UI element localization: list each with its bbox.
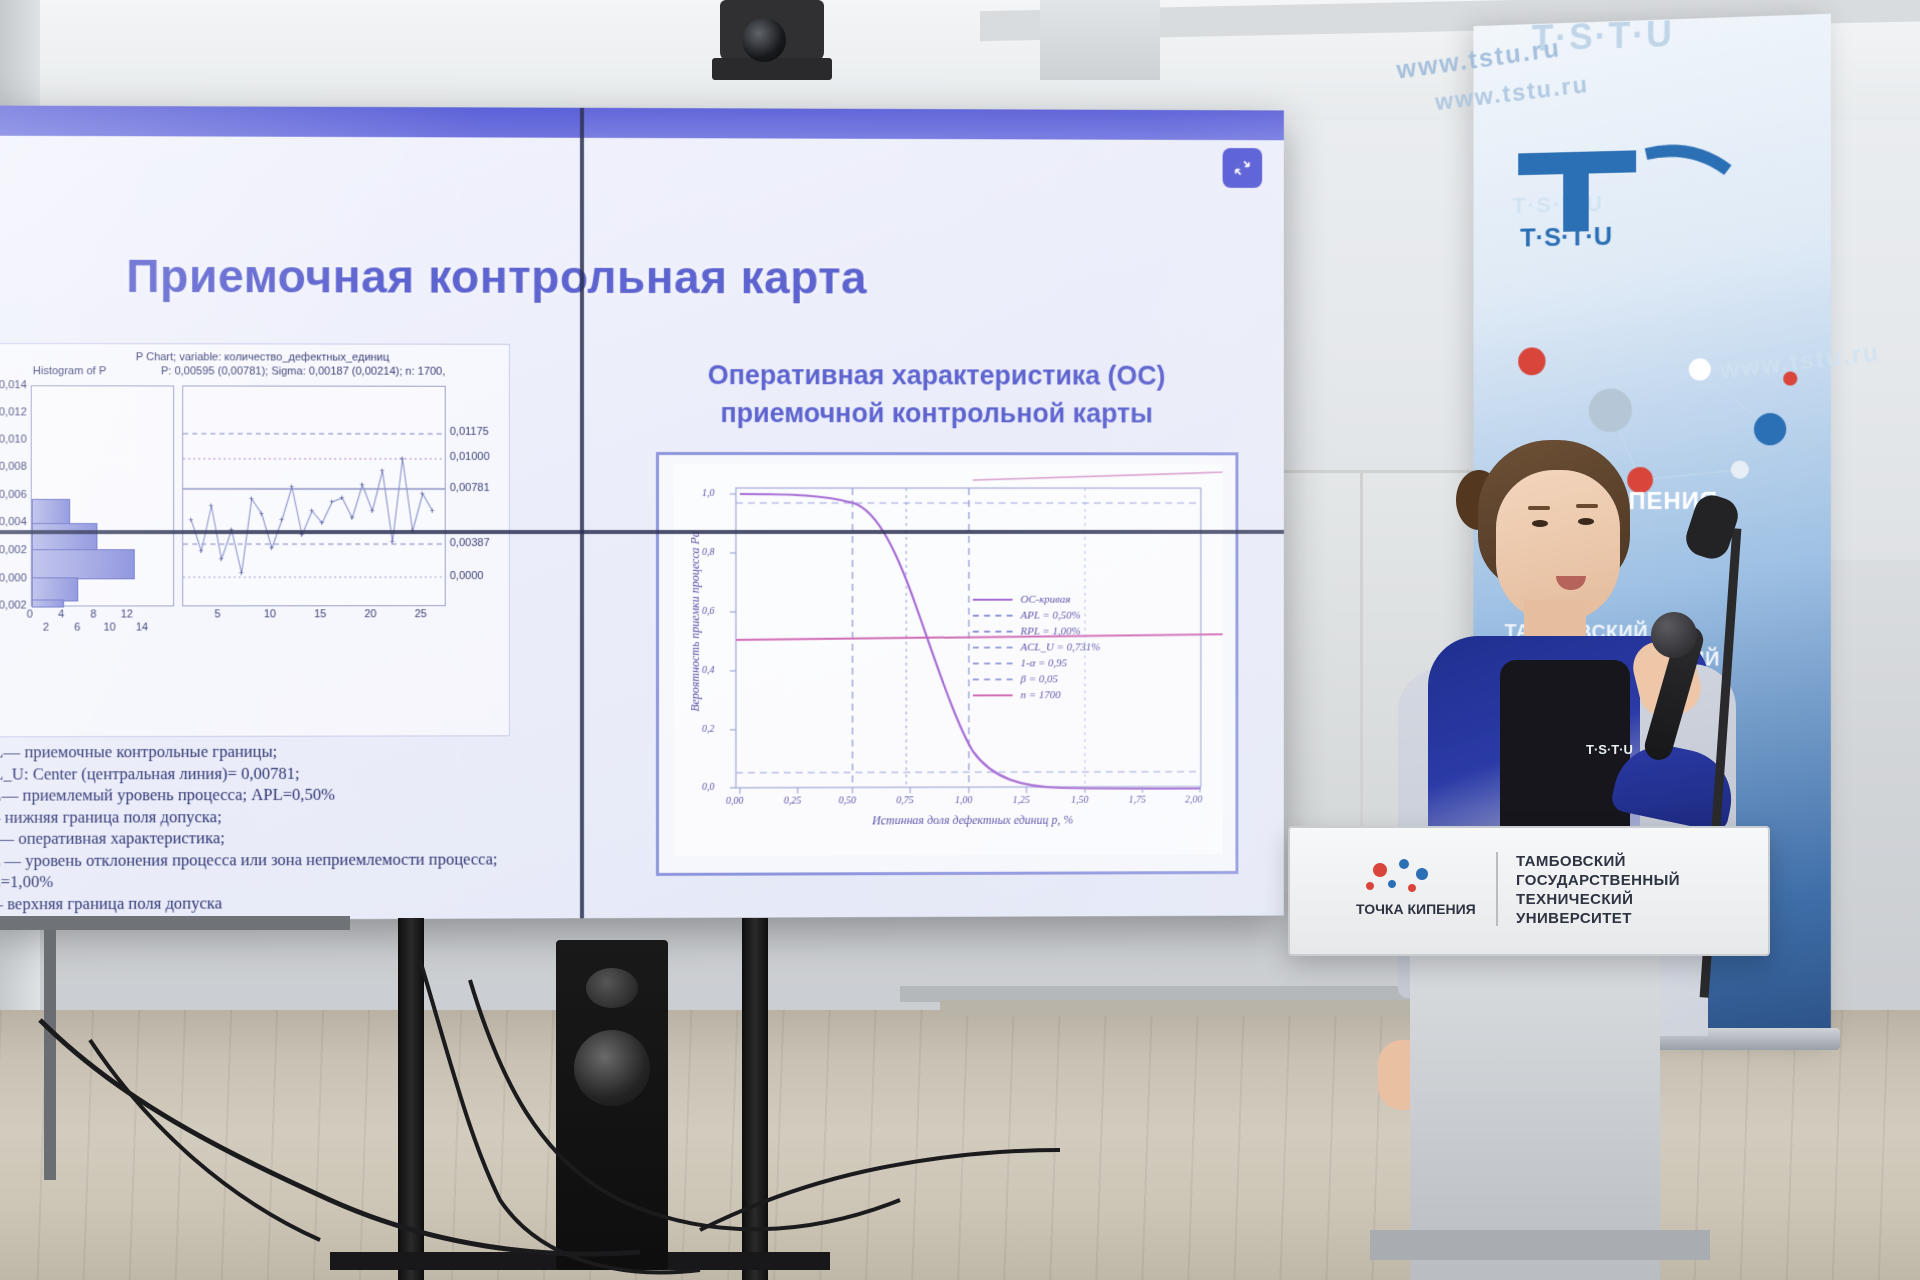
svg-text:+: + — [279, 515, 284, 525]
p-chart-xtick: 10 — [264, 608, 276, 620]
hist-xtick: 4 — [58, 609, 64, 621]
p-chart-xtick: 15 — [314, 608, 326, 620]
oc-xtick: 1,25 — [1013, 795, 1030, 806]
hist-xtick: 12 — [121, 608, 133, 620]
hist-ytick: 0,008 — [0, 461, 27, 473]
p-chart-rlabel: 0,00387 — [450, 537, 490, 549]
p-chart-svg: +++ +++ +++ +++ +++ +++ +++ +++ + — [183, 386, 445, 605]
oc-ytick: 1,0 — [702, 488, 714, 499]
cable-bundle — [0, 900, 1200, 1280]
hist-ytick: 0,006 — [0, 489, 27, 501]
p-chart-xtick: 20 — [364, 608, 376, 620]
oc-chart-title: Оперативная характеристика (ОС) приемочн… — [608, 356, 1264, 433]
histogram-plot — [31, 385, 174, 606]
svg-text:+: + — [339, 493, 344, 503]
hist-ytick: 0,010 — [0, 434, 27, 446]
oc-xtick: 1,50 — [1071, 795, 1088, 806]
podium-org-line4: УНИВЕРСИТЕТ — [1516, 909, 1736, 928]
svg-text:T·S·T·U: T·S·T·U — [1520, 223, 1612, 253]
oc-xtick: 2,00 — [1185, 794, 1202, 805]
presenter-eye-right — [1578, 518, 1594, 525]
oc-title-line2: приемочной контрольной карты — [608, 394, 1264, 433]
ceiling-duct — [1040, 0, 1160, 80]
podium-foot — [1370, 1230, 1710, 1260]
oc-xlabel: Истинная доля дефектных единиц p, % — [814, 813, 1132, 829]
svg-text:+: + — [329, 497, 334, 507]
hist-xtick: 10 — [103, 622, 115, 634]
svg-text:+: + — [309, 506, 314, 516]
svg-text:+: + — [400, 454, 405, 464]
p-chart-xtick: 25 — [415, 608, 427, 620]
svg-text:+: + — [420, 489, 425, 499]
legend-swatch-dashed-icon — [973, 662, 1013, 664]
p-chart-rlabel: 0,01000 — [450, 451, 490, 463]
histogram-bar — [32, 549, 135, 579]
screen-bezel-vertical — [580, 108, 584, 918]
banner-watermark-brand: T·S·T·U — [1532, 13, 1674, 60]
histogram-label: Histogram of P — [33, 365, 107, 377]
legend-label: RPL = 1,00% — [1021, 626, 1081, 638]
legend-swatch-dashed-icon — [973, 647, 1013, 649]
note-line: RPL — уровень отклонения процесса или зо… — [0, 847, 674, 871]
tstu-logo: T·S·T·U — [1508, 136, 1786, 252]
p-chart-title-line1: P Chart; variable: количество_дефектных_… — [136, 351, 498, 364]
hist-xtick: 6 — [74, 622, 80, 634]
histogram-bar — [32, 499, 70, 525]
p-chart-rlabel: 0,0000 — [450, 570, 484, 582]
oc-ytick: 0,4 — [702, 665, 714, 676]
legend-label: ОС-кривая — [1021, 594, 1071, 606]
podium-org-line3: ТЕХНИЧЕСКИЙ — [1516, 890, 1736, 909]
legend-label: APL = 0,50% — [1021, 610, 1081, 622]
histogram-bar — [32, 599, 64, 607]
legend-item: n = 1700 — [973, 687, 1201, 703]
svg-text:ТОЧКА КИПЕНИЯ: ТОЧКА КИПЕНИЯ — [1356, 901, 1476, 917]
tstu-logo-icon: T·S·T·U — [1508, 136, 1786, 252]
note-line: ACL_U: Center (центральная линия)= 0,007… — [0, 761, 674, 784]
p-chart-title-line2: P: 0,00595 (0,00781); Sigma: 0,00187 (0,… — [161, 365, 583, 378]
svg-text:+: + — [389, 537, 394, 547]
oc-xtick: 1,75 — [1129, 795, 1146, 806]
p-chart-xtick: 5 — [214, 608, 220, 620]
hist-xtick: 14 — [136, 621, 148, 633]
legend-label: ACL_U = 0,731% — [1021, 641, 1101, 653]
oc-xtick: 0,25 — [784, 796, 801, 807]
svg-text:+: + — [269, 543, 274, 553]
svg-text:+: + — [249, 494, 254, 504]
note-line: L — нижняя граница поля допуска; — [0, 804, 674, 828]
svg-text:+: + — [369, 506, 374, 516]
presenter-brow-right — [1576, 504, 1598, 508]
hist-xtick: 8 — [90, 608, 96, 620]
hist-xtick: 2 — [43, 622, 49, 634]
p-chart-rlabel: 0,01175 — [450, 426, 489, 438]
hist-ytick: 0,012 — [0, 406, 27, 418]
legend-swatch-solid-icon — [973, 599, 1013, 601]
legend-label: 1-α = 0,95 — [1021, 657, 1068, 669]
oc-xtick: 0,50 — [839, 795, 856, 806]
legend-item: ОС-кривая — [973, 592, 1201, 608]
camera-base — [712, 58, 832, 80]
slide-notes: ACL— приемочные контрольные границы; ACL… — [0, 740, 674, 921]
oc-chart-plot-area: Вероятность приемки процесса Pa — [674, 464, 1223, 856]
hist-ytick: -0,002 — [0, 599, 27, 611]
oc-legend: ОС-кривая APL = 0,50% RPL = 1,00% ACL_U … — [973, 592, 1201, 704]
legend-swatch-dashed-icon — [973, 678, 1013, 680]
screenshot-root: Приемочная контрольная карта P Chart; va… — [0, 0, 1920, 1280]
oc-ytick: 0,2 — [702, 724, 714, 735]
slide-surface: Приемочная контрольная карта P Chart; va… — [0, 106, 1284, 921]
svg-text:+: + — [218, 554, 223, 564]
fullscreen-toggle-button[interactable] — [1223, 148, 1263, 188]
hist-ytick: 0,002 — [0, 544, 27, 556]
podium-org-line1: ТАМБОВСКИЙ — [1516, 852, 1736, 871]
note-line: APL— приемлемый уровень процесса; APL=0,… — [0, 783, 674, 806]
legend-label: β = 0,05 — [1021, 673, 1058, 685]
p-chart-plot: +++ +++ +++ +++ +++ +++ +++ +++ + — [182, 385, 446, 606]
legend-swatch-dashed-icon — [973, 631, 1013, 633]
hist-ytick: 0,004 — [0, 516, 27, 528]
svg-text:+: + — [379, 466, 384, 476]
oc-ytick: 0,6 — [702, 606, 714, 617]
microphone-head-icon — [1651, 612, 1697, 658]
svg-text:+: + — [289, 482, 294, 492]
svg-text:+: + — [208, 501, 213, 511]
presenter-brow-left — [1528, 506, 1550, 510]
screen-bezel-horizontal — [0, 530, 1284, 534]
legend-item: RPL = 1,00% — [973, 623, 1201, 639]
legend-item: β = 0,05 — [973, 671, 1201, 687]
camera-lens-icon — [742, 18, 786, 62]
legend-item: ACL_U = 0,731% — [973, 639, 1201, 655]
oc-xtick: 1,00 — [955, 795, 972, 806]
presenter-eye-left — [1532, 520, 1548, 527]
histogram-bar — [32, 577, 78, 601]
video-wall-screen[interactable]: Приемочная контрольная карта P Chart; va… — [0, 106, 1284, 921]
hist-ytick: 0,014 — [0, 379, 27, 391]
svg-text:+: + — [349, 513, 354, 523]
svg-text:+: + — [430, 506, 435, 516]
tochka-kipeniya-logo-icon: ТОЧКА КИПЕНИЯ — [1330, 848, 1480, 930]
hist-xtick: 0 — [27, 609, 33, 621]
svg-text:+: + — [239, 568, 244, 578]
oc-xtick: 0,75 — [896, 795, 913, 806]
slide-title: Приемочная контрольная карта — [0, 248, 1007, 304]
podium-org-name: ТАМБОВСКИЙ ГОСУДАРСТВЕННЫЙ ТЕХНИЧЕСКИЙ У… — [1516, 852, 1736, 928]
legend-label: n = 1700 — [1021, 689, 1061, 701]
note-line: ACL— приемочные контрольные границы; — [0, 740, 674, 763]
hist-ytick: 0,000 — [0, 572, 27, 584]
svg-text:+: + — [259, 509, 264, 519]
oc-ytick: 0,8 — [702, 547, 714, 558]
svg-text:+: + — [188, 515, 193, 525]
podium-logo: ТОЧКА КИПЕНИЯ — [1330, 848, 1480, 930]
legend-swatch-solid-icon — [973, 694, 1013, 696]
podium-divider — [1496, 852, 1498, 926]
podium-org-line2: ГОСУДАРСТВЕННЫЙ — [1516, 871, 1736, 890]
histogram-bar — [32, 523, 98, 551]
collapse-arrows-icon — [1232, 158, 1252, 178]
oc-ytick: 0,0 — [702, 782, 714, 793]
oc-xtick: 0,00 — [726, 796, 743, 807]
legend-item: 1-α = 0,95 — [973, 655, 1201, 671]
svg-text:+: + — [359, 480, 364, 490]
legend-swatch-dashed-icon — [973, 615, 1013, 617]
svg-text:+: + — [198, 546, 203, 556]
p-chart-rlabel: 0,00781 — [450, 482, 490, 494]
legend-item: APL = 0,50% — [973, 607, 1201, 623]
note-line: OC — оперативная характеристика; — [0, 826, 674, 850]
slide-top-band-right — [580, 108, 1284, 140]
note-line: RPL=1,00% — [0, 869, 674, 893]
oc-title-line1: Оперативная характеристика (ОС) — [608, 356, 1264, 395]
svg-text:+: + — [319, 518, 324, 528]
